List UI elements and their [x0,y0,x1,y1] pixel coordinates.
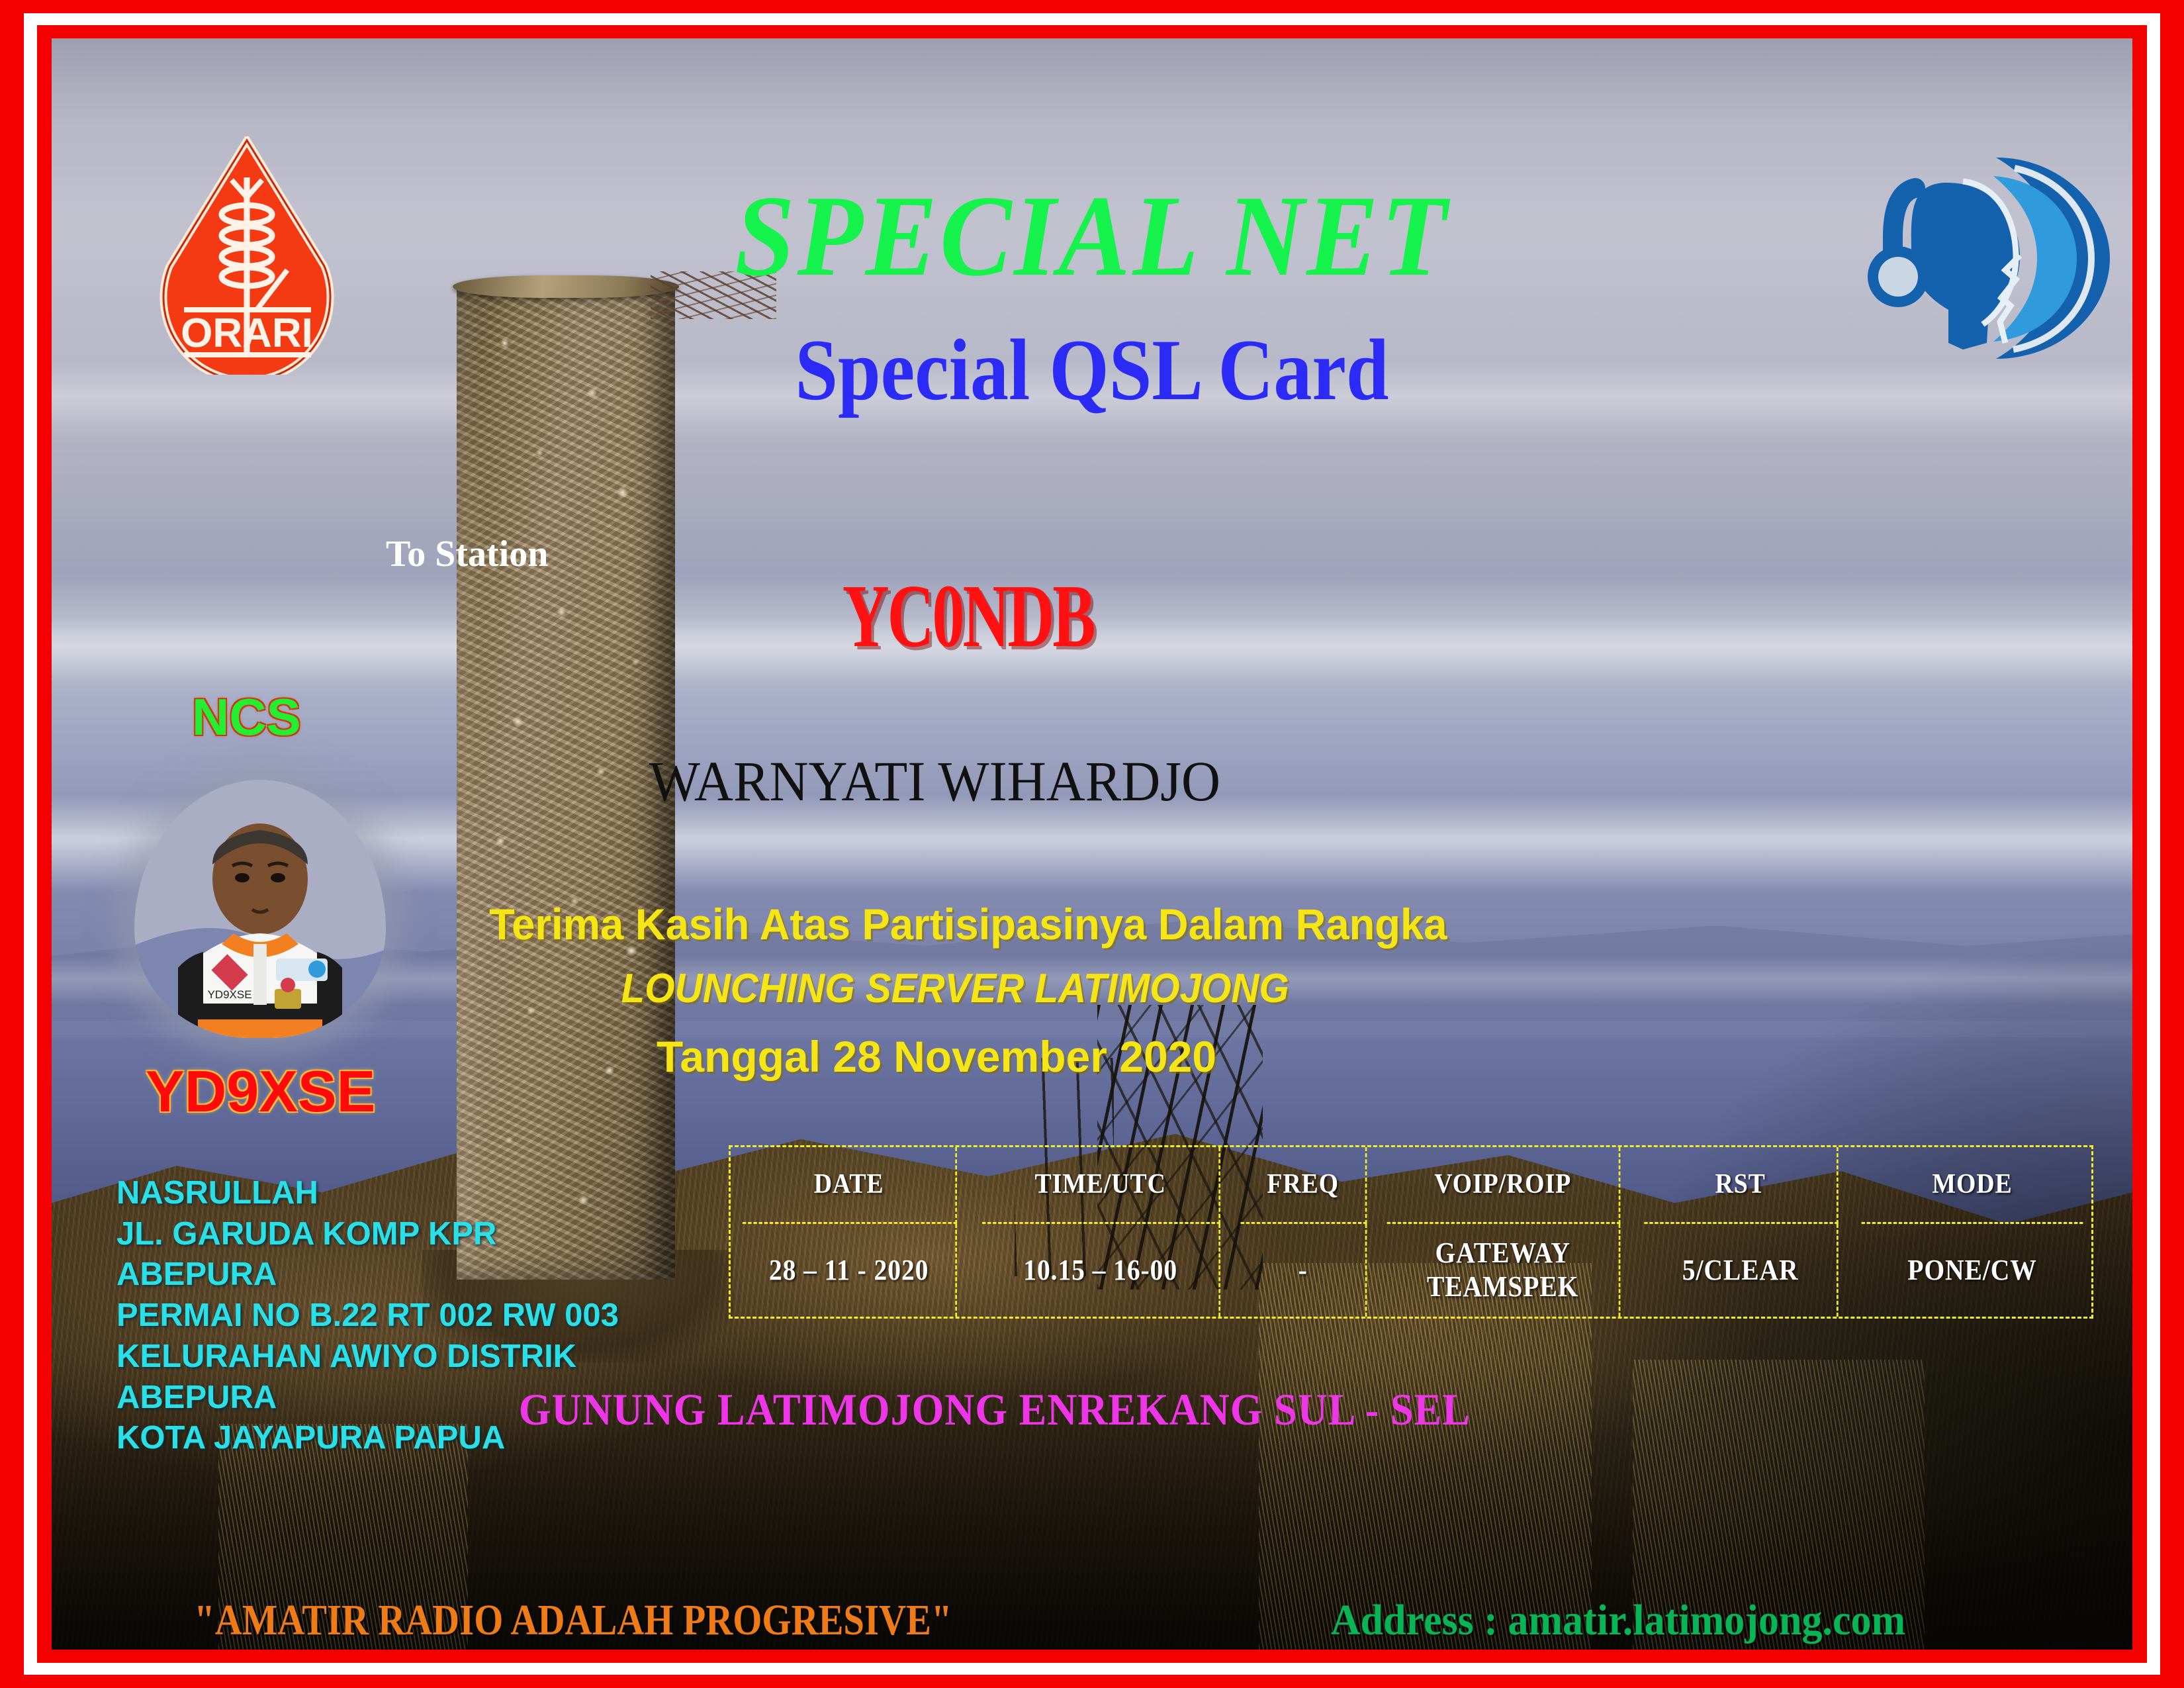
address-line: PERMAI NO B.22 RT 002 RW 003 [116,1295,619,1336]
address-line: KELURAHAN AWIYO DISTRIK [116,1336,619,1378]
thanks-line-2: LOUNCHING SERVER LATIMOJONG [114,965,2070,1012]
page-subtitle-qsl-card: Special QSL Card [177,319,2008,420]
station-callsign: YC0NDB [343,565,1841,668]
table-header-rst: RST [1644,1147,1838,1224]
operator-name: WARNYATI WIHARDJO [104,748,2081,814]
motto-text: "AMATIR RADIO ADALAH PROGRESIVE" [194,1595,952,1646]
address-line: NASRULLAH [116,1173,619,1214]
table-header-time-utc: TIME/UTC [982,1147,1220,1224]
table-cell-date: 28 – 11 - 2020 [743,1224,957,1317]
table-cell-mode: PONE/CW [1862,1224,2083,1317]
address-line: ABEPURA [116,1254,619,1295]
table-cell-rst: 5/CLEAR [1644,1224,1838,1317]
location-line: GUNUNG LATIMOJONG ENREKANG SUL - SEL [135,1383,2049,1436]
table-header-mode: MODE [1862,1147,2083,1224]
card-background-photo: ORARI [52,38,2132,1650]
table-header-freq: FREQ [1241,1147,1367,1224]
qso-details-table: DATE TIME/UTC FREQ VOIP/ROIP RST MODE 28… [729,1145,2093,1319]
table-header-date: DATE [743,1147,957,1224]
web-address-text: Address : amatir.latimojong.com [1331,1595,1906,1646]
address-line: JL. GARUDA KOMP KPR [116,1214,619,1255]
qsl-card-frame: ORARI [0,0,2184,1688]
table-cell-time-utc: 10.15 – 16-00 [982,1224,1220,1317]
table-header-voip-roip: VOIP/ROIP [1387,1147,1621,1224]
thanks-line-3: Tanggal 28 November 2020 [52,1031,2132,1082]
table-cell-freq: - [1241,1224,1367,1317]
page-title-special-net: SPECIAL NET [124,169,2060,303]
table-cell-voip-roip: GATEWAY TEAMSPEK [1387,1224,1621,1317]
ncs-label: NCS [192,687,301,747]
thanks-line-1: Terima Kasih Atas Partisipasinya Dalam R… [93,899,2091,949]
